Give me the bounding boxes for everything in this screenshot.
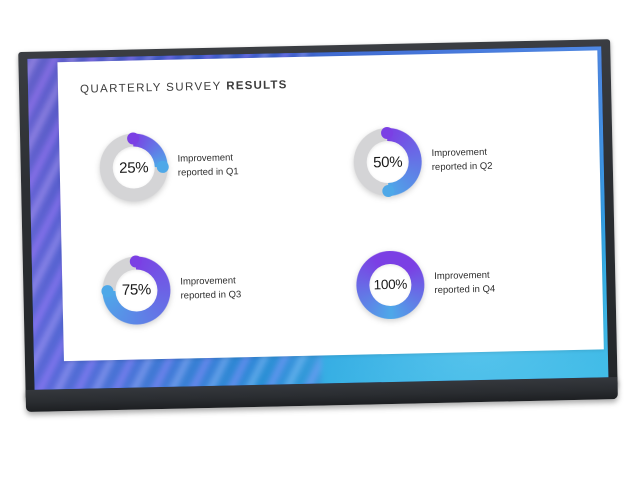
- donut-cell-q2: 50% Improvement reported in Q2: [330, 97, 587, 225]
- donut-chart-q3: 75%: [102, 256, 171, 325]
- page-title: QUARTERLY SURVEY RESULTS: [80, 79, 288, 96]
- donut-chart-q2: 50%: [353, 128, 422, 197]
- donut-grid: 25% Improvement reported in Q1 50% Impro…: [76, 97, 589, 353]
- donut-cell-q3: 75% Improvement reported in Q3: [79, 225, 336, 353]
- presentation-slide: QUARTERLY SURVEY RESULTS 25% Improvement…: [57, 50, 603, 361]
- donut-caption-q3: Improvement reported in Q3: [180, 274, 241, 303]
- donut-caption-q1: Improvement reported in Q1: [177, 152, 238, 181]
- donut-chart-q4: 100%: [356, 250, 425, 319]
- donut-chart-q1: 25%: [99, 133, 168, 202]
- donut-value-q1: 25%: [99, 133, 168, 202]
- screenshot-stage: QUARTERLY SURVEY RESULTS 25% Improvement…: [0, 0, 640, 480]
- donut-cell-q4: 100% Improvement reported in Q4: [333, 219, 590, 347]
- monitor: QUARTERLY SURVEY RESULTS 25% Improvement…: [18, 39, 617, 400]
- donut-value-q4: 100%: [356, 250, 425, 319]
- title-light-part: QUARTERLY SURVEY: [80, 81, 222, 96]
- donut-caption-q2: Improvement reported in Q2: [431, 146, 492, 175]
- donut-caption-q4: Improvement reported in Q4: [434, 269, 495, 298]
- donut-cell-q1: 25% Improvement reported in Q1: [76, 102, 333, 230]
- donut-value-q2: 50%: [353, 128, 422, 197]
- donut-value-q3: 75%: [102, 256, 171, 325]
- title-bold-part: RESULTS: [226, 79, 287, 92]
- monitor-screen: QUARTERLY SURVEY RESULTS 25% Improvement…: [27, 46, 608, 389]
